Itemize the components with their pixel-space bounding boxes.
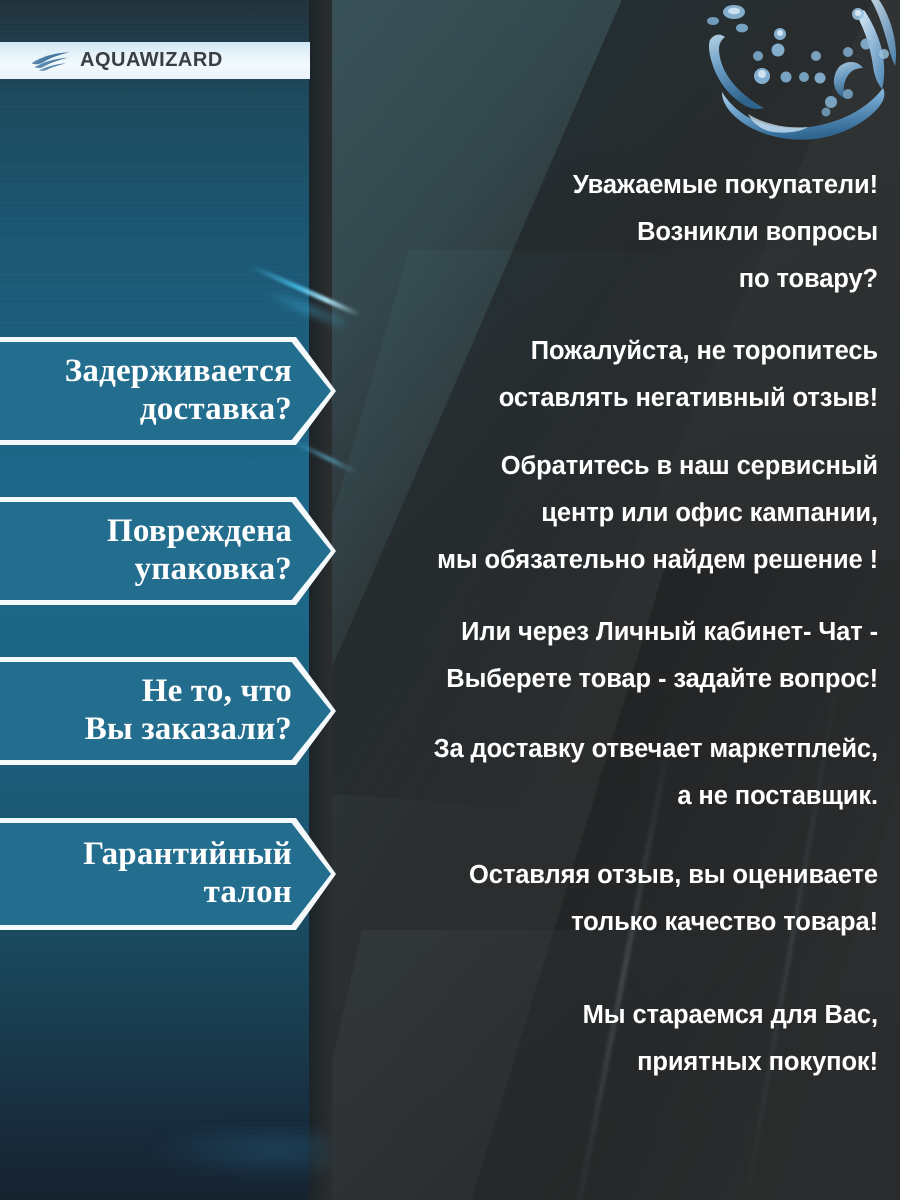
brand-logo-bar: AQUAWIZARD xyxy=(0,42,310,79)
banner-warranty-card[interactable]: Гарантийный талон xyxy=(0,818,336,930)
banner-label: Гарантийный талон xyxy=(83,836,336,911)
banner-label: Задерживается доставка? xyxy=(65,353,336,428)
paragraph-no-negative-review: Пожалуйста, не торопитесь оставлять нега… xyxy=(332,328,878,422)
banner-wrong-item[interactable]: Не то, что Вы заказали? xyxy=(0,657,336,765)
paragraph-chat-instructions: Или через Личный кабинет- Чат - Выберете… xyxy=(332,609,878,703)
promo-poster: AQUAWIZARD Задерживается доставка? Повре… xyxy=(0,0,900,1200)
message-column: Уважаемые покупатели! Возникли вопросы п… xyxy=(332,0,900,1200)
paragraph-delivery-responsibility: За доставку отвечает маркетплейс, а не п… xyxy=(332,726,878,820)
banner-label: Не то, что Вы заказали? xyxy=(85,673,336,748)
water-wave-icon xyxy=(30,50,72,72)
banner-damaged-packaging[interactable]: Повреждена упаковка? xyxy=(0,497,336,605)
brand-logo: AQUAWIZARD xyxy=(30,49,223,72)
brand-name: AQUAWIZARD xyxy=(80,49,223,72)
paragraph-greeting: Уважаемые покупатели! Возникли вопросы п… xyxy=(332,162,878,303)
banner-delivery-delayed[interactable]: Задерживается доставка? xyxy=(0,337,336,445)
paragraph-closing: Мы стараемся для Вас, приятных покупок! xyxy=(332,992,878,1086)
banner-label: Повреждена упаковка? xyxy=(107,513,336,588)
glint-glow-icon xyxy=(150,1130,330,1180)
paragraph-review-quality: Оставляя отзыв, вы оцениваете только кач… xyxy=(332,852,878,946)
paragraph-contact-service: Обратитесь в наш сервисный центр или офи… xyxy=(332,443,878,584)
